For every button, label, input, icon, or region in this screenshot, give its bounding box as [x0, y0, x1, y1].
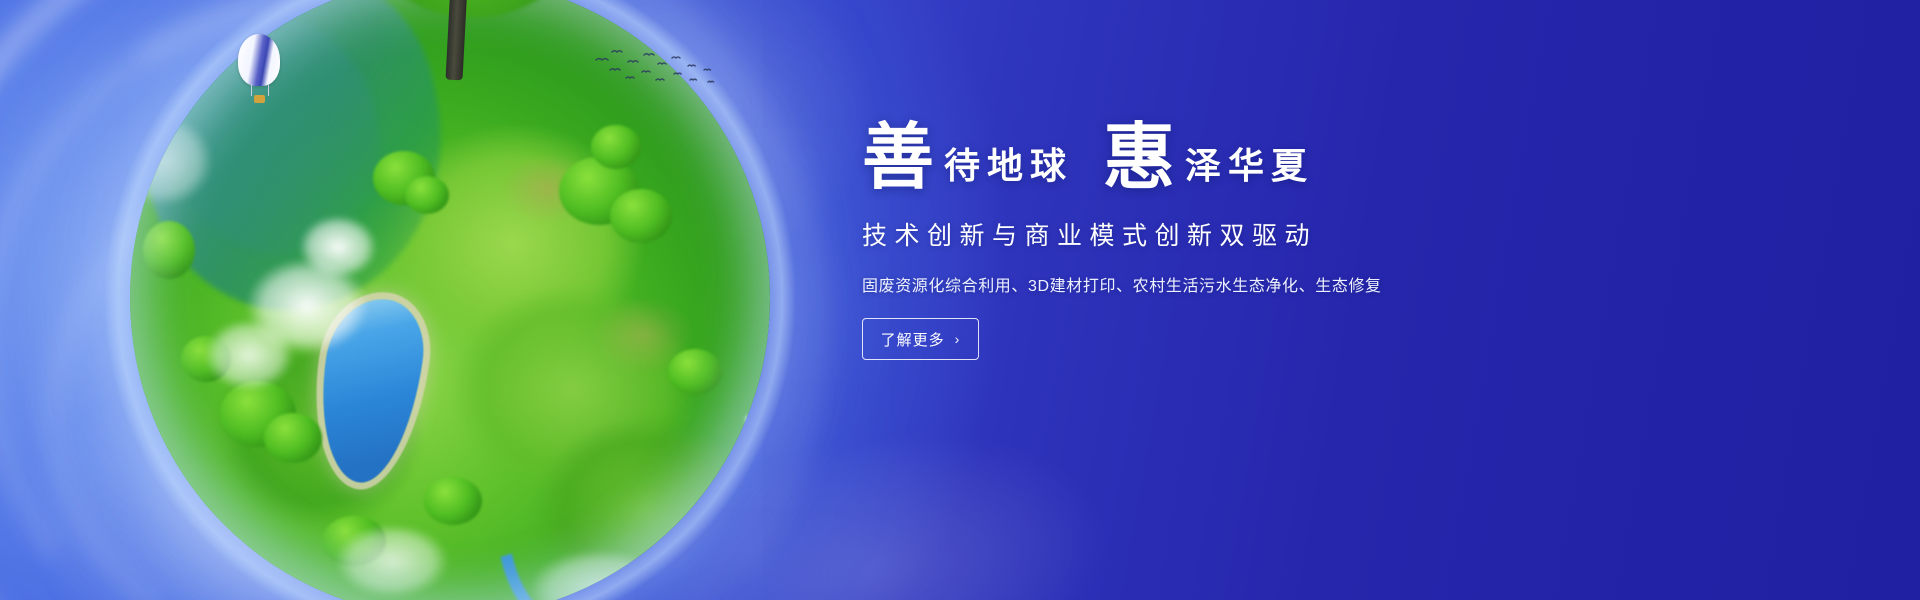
headline-segment-1: 善 — [862, 122, 934, 194]
hero-content: 善 待地球 惠 泽华夏 技术创新与商业模式创新双驱动 固废资源化综合利用、3D建… — [862, 122, 1502, 360]
learn-more-button[interactable]: 了解更多 › — [862, 318, 979, 360]
chevron-right-icon: › — [955, 332, 961, 346]
headline-segment-4: 泽华夏 — [1185, 148, 1314, 184]
hot-air-balloon-icon — [238, 34, 284, 108]
learn-more-label: 了解更多 — [881, 329, 945, 350]
balloon-basket — [254, 95, 265, 103]
headline-segment-3: 惠 — [1103, 122, 1175, 194]
headline: 善 待地球 惠 泽华夏 — [862, 122, 1502, 194]
subtitle: 技术创新与商业模式创新双驱动 — [862, 216, 1502, 252]
description: 固废资源化综合利用、3D建材打印、农村生活污水生态净化、生态修复 — [862, 272, 1502, 296]
birds-flock-icon — [592, 46, 722, 92]
balloon-envelope — [238, 34, 280, 86]
headline-segment-2: 待地球 — [944, 148, 1073, 184]
hero-banner: 善 待地球 惠 泽华夏 技术创新与商业模式创新双驱动 固废资源化综合利用、3D建… — [0, 0, 1920, 600]
